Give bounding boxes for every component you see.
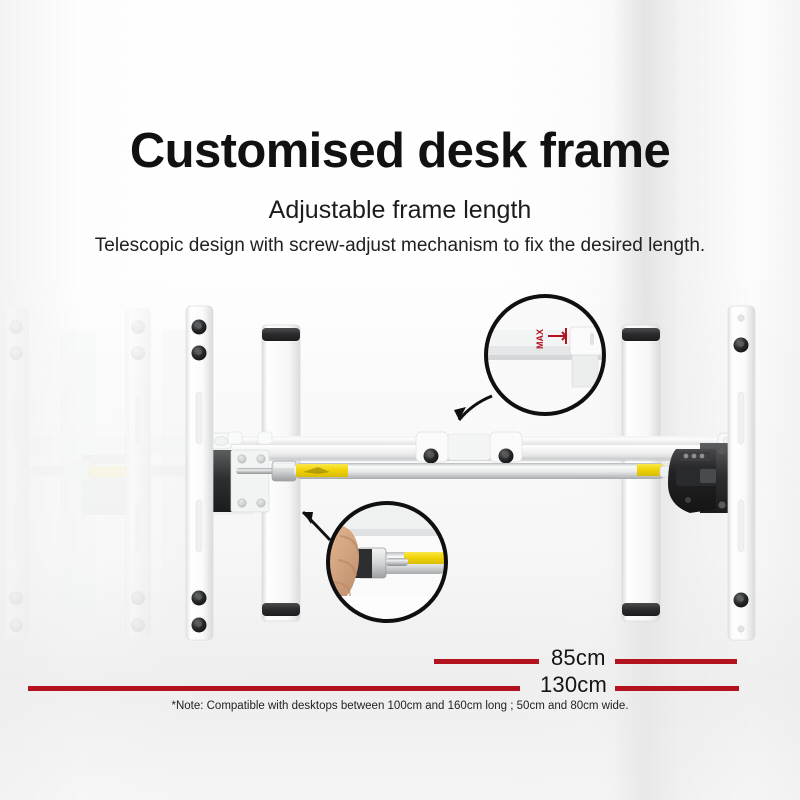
min-length-right-line [615,659,737,664]
max-length-right-line [615,686,739,691]
page-tagline: Telescopic design with screw-adjust mech… [0,235,800,257]
background-texture [0,0,800,800]
max-length-label: 130cm [540,672,607,698]
min-length-label: 85cm [551,645,606,671]
compatibility-note: *Note: Compatible with desktops between … [0,700,800,712]
product-marketing-image: MAX [0,0,800,800]
page-title: Customised desk frame [0,126,800,177]
page-subtitle: Adjustable frame length [0,196,800,225]
min-length-left-line [434,659,539,664]
max-length-left-line [28,686,520,691]
